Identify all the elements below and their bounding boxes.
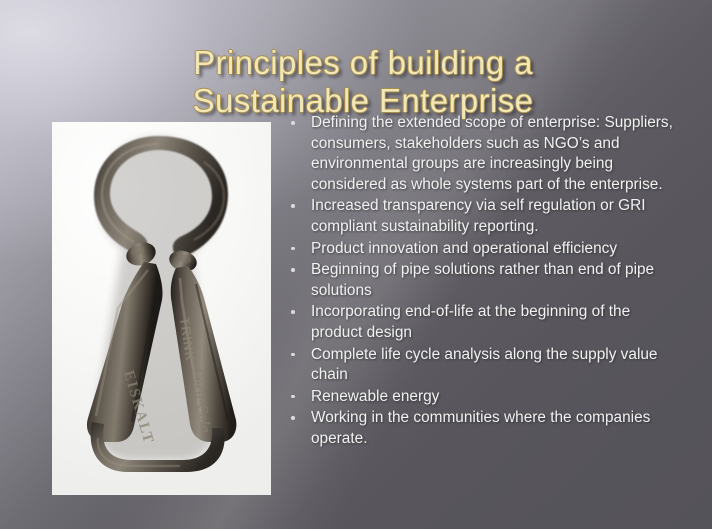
title-line-1: Principles of building a xyxy=(96,44,630,82)
list-item: Product innovation and operational effic… xyxy=(286,239,678,260)
list-item: Complete life cycle analysis along the s… xyxy=(286,345,678,386)
list-item: Working in the communities where the com… xyxy=(286,408,678,449)
bullet-dot-icon xyxy=(291,204,295,208)
bullet-dot-icon xyxy=(291,247,295,251)
bottle-opener-illustration: EISKALT TRINK Coca-Cola xyxy=(52,122,271,495)
bullet-dot-icon xyxy=(291,310,295,314)
bullet-dot-icon xyxy=(291,121,295,125)
page-title: Principles of building a Sustainable Ent… xyxy=(96,44,630,120)
list-item-text: Incorporating end-of-life at the beginni… xyxy=(311,302,678,343)
bullet-dot-icon xyxy=(291,268,295,272)
list-item-text: Product innovation and operational effic… xyxy=(311,239,678,260)
list-item-text: Increased transparency via self regulati… xyxy=(311,196,678,237)
bullet-dot-icon xyxy=(291,416,295,420)
list-item: Beginning of pipe solutions rather than … xyxy=(286,260,678,301)
list-item-text: Complete life cycle analysis along the s… xyxy=(311,345,678,386)
bullet-dot-icon xyxy=(291,395,295,399)
list-item-text: Defining the extended scope of enterpris… xyxy=(311,113,678,195)
list-item: Incorporating end-of-life at the beginni… xyxy=(286,302,678,343)
bottle-opener-photo: EISKALT TRINK Coca-Cola xyxy=(52,122,271,495)
bullet-list: Defining the extended scope of enterpris… xyxy=(286,113,678,451)
list-item: Increased transparency via self regulati… xyxy=(286,196,678,237)
list-item: Defining the extended scope of enterpris… xyxy=(286,113,678,195)
list-item-text: Beginning of pipe solutions rather than … xyxy=(311,260,678,301)
list-item: Renewable energy xyxy=(286,387,678,408)
bullet-dot-icon xyxy=(291,353,295,357)
presentation-slide: Principles of building a Sustainable Ent… xyxy=(0,0,712,529)
list-item-text: Renewable energy xyxy=(311,387,678,408)
list-item-text: Working in the communities where the com… xyxy=(311,408,678,449)
